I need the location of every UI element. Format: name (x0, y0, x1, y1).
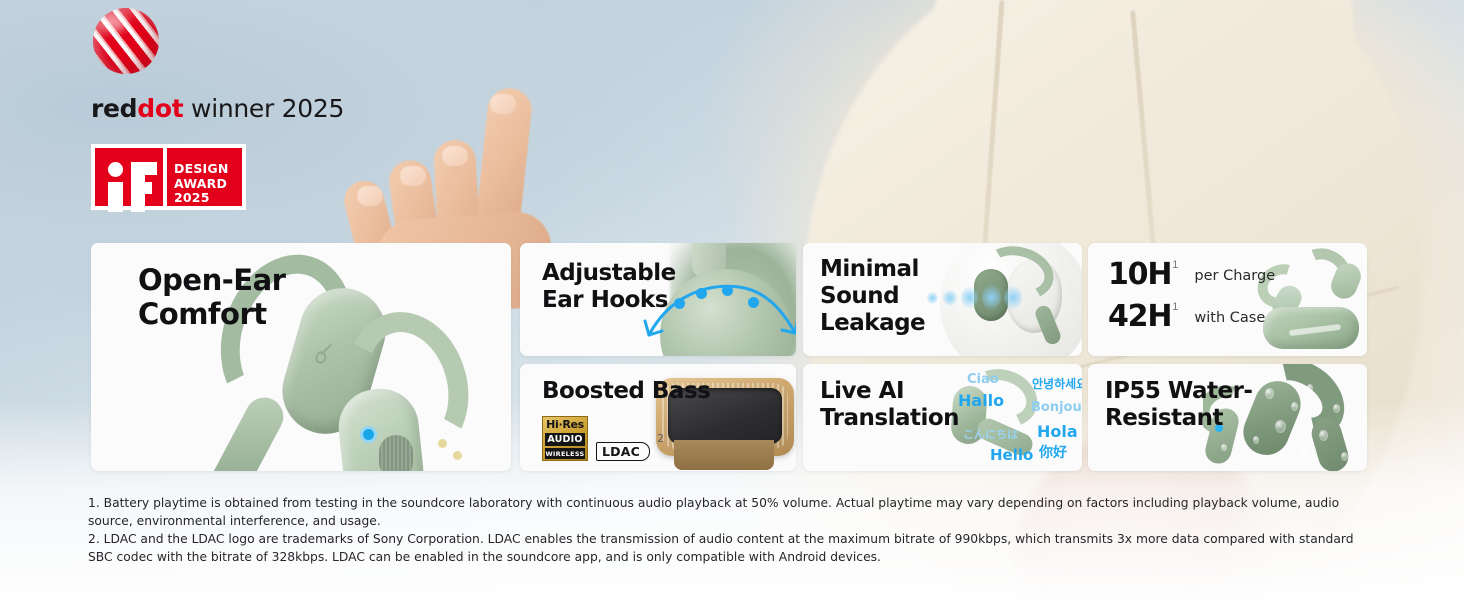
water-droplet (1333, 404, 1340, 413)
card-title-minimal-leakage: Minimal Sound Leakage (820, 256, 925, 337)
water-droplet (1275, 420, 1286, 433)
battery-superscript-per-charge: 1 (1172, 260, 1178, 271)
hook-adjust-node (696, 288, 707, 299)
sound-dot (1004, 286, 1022, 309)
if-award-line2: AWARD (174, 177, 242, 192)
card-title-water-resistant: IP55 Water- Resistant (1105, 378, 1252, 432)
greeting-chinese: 你好 (1039, 442, 1067, 462)
if-award-text: DESIGN AWARD 2025 (167, 148, 242, 206)
hook-adjust-node (748, 297, 759, 308)
sound-dot (927, 292, 938, 304)
feature-card-live-ai-translation[interactable]: Live AI Translation Ciao 안녕하세요 Hallo Bon… (803, 364, 1082, 471)
charging-contact (453, 451, 462, 460)
battery-row-with-case: 42H 1 with Case (1108, 302, 1275, 332)
earbud-tail-large (1308, 415, 1352, 471)
water-droplet (1301, 448, 1309, 458)
footnote-2: 2. LDAC and the LDAC logo are trademarks… (88, 530, 1378, 566)
award-badges: reddot winner 2025 DESIGN AWARD 2025 (91, 8, 351, 211)
card-title-open-ear: Open-Ear Comfort (138, 263, 285, 331)
if-i-stem (108, 182, 123, 212)
battery-superscript-with-case: 1 (1172, 302, 1178, 313)
speaker-mesh (379, 435, 413, 471)
battery-label-with-case: with Case (1194, 310, 1265, 326)
if-f-mid (131, 182, 152, 194)
greeting-bonjour: Bonjour (1031, 400, 1082, 415)
hi-res-audio-wireless-badge: Hi·Res AUDIO WIRELESS (542, 416, 588, 461)
hires-badge-line2: AUDIO (545, 433, 585, 446)
greeting-japanese: こんにちは (963, 426, 1018, 442)
reddot-sphere-icon (93, 8, 159, 74)
greeting-hello: Hello (990, 446, 1033, 464)
reddot-winner-text: winner 2025 (183, 94, 344, 123)
if-award-line1: DESIGN (174, 162, 242, 177)
fingernail (490, 94, 516, 114)
sound-dot (943, 290, 957, 306)
footnotes: 1. Battery playtime is obtained from tes… (88, 494, 1378, 566)
battery-value-per-charge: 10H (1108, 260, 1171, 290)
hires-badge-line1: Hi·Res (546, 418, 584, 432)
greeting-ciao: Ciao (967, 372, 999, 387)
ldac-badge: LDAC (596, 442, 650, 461)
sound-dot (961, 287, 978, 308)
feature-card-boosted-bass[interactable]: Boosted Bass Hi·Res AUDIO WIRELESS LDAC … (520, 364, 796, 471)
reddot-red-text: red (91, 94, 137, 123)
water-droplet (1307, 384, 1313, 392)
feature-card-open-ear-comfort[interactable]: Open-Ear Comfort (91, 243, 511, 471)
battery-spec-list: 10H 1 per Charge 42H 1 with Case (1108, 260, 1275, 344)
water-droplet (1291, 402, 1298, 411)
fingernail (357, 186, 383, 206)
if-design-award-badge: DESIGN AWARD 2025 (91, 144, 246, 210)
card-title-live-translation: Live AI Translation (820, 378, 959, 432)
battery-value-with-case: 42H (1108, 302, 1171, 332)
water-droplet (1265, 388, 1274, 399)
water-droplet (1221, 444, 1227, 451)
driver-base (674, 440, 774, 470)
ear-sound-leakage-image (922, 243, 1082, 356)
feature-card-water-resistant[interactable]: IP55 Water- Resistant (1088, 364, 1367, 471)
battery-row-per-charge: 10H 1 per Charge (1108, 260, 1275, 290)
reddot-dot-text: dot (137, 94, 183, 123)
water-droplet (1319, 430, 1328, 441)
water-droplet (1253, 436, 1259, 444)
sound-wave-visualization (922, 283, 1024, 313)
feature-card-battery-life[interactable]: 10H 1 per Charge 42H 1 with Case (1088, 243, 1367, 356)
ldac-footnote-superscript: 2 (657, 432, 664, 445)
greeting-hallo: Hallo (958, 391, 1004, 410)
fingernail (442, 146, 468, 166)
if-award-line3: 2025 (174, 191, 242, 206)
hires-badge-line3: WIRELESS (545, 448, 585, 459)
reddot-winner-label: reddot winner 2025 (91, 94, 351, 123)
hook-adjust-node (722, 285, 733, 296)
battery-label-per-charge: per Charge (1194, 268, 1275, 284)
feature-card-grid: Open-Ear Comfort Adjustable Ear Hooks (91, 243, 1367, 471)
fingernail (400, 166, 426, 186)
feature-card-adjustable-ear-hooks[interactable]: Adjustable Ear Hooks (520, 243, 796, 356)
if-logo-icon (95, 148, 163, 206)
if-i-dot (108, 162, 123, 177)
card-title-adjustable-hooks: Adjustable Ear Hooks (542, 260, 676, 314)
power-indicator-icon (360, 426, 377, 443)
charging-contact (438, 439, 447, 448)
sound-dot (982, 285, 1001, 310)
card-title-boosted-bass: Boosted Bass (542, 378, 710, 405)
feature-card-minimal-sound-leakage[interactable]: Minimal Sound Leakage (803, 243, 1082, 356)
greeting-hola: Hola (1037, 422, 1078, 441)
greeting-korean: 안녕하세요 (1032, 375, 1082, 392)
if-f-top (131, 162, 157, 175)
water-droplet (1341, 452, 1348, 461)
footnote-1: 1. Battery playtime is obtained from tes… (88, 494, 1378, 530)
